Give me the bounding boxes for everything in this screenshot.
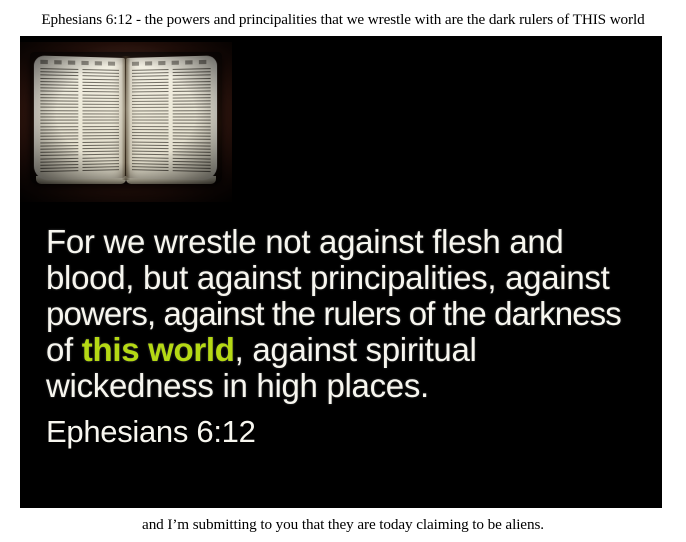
- scripture-quote: For we wrestle not against flesh and blo…: [46, 224, 646, 450]
- quote-line-4: of this world, against spiritual: [46, 332, 646, 368]
- media-panel: For we wrestle not against flesh and blo…: [20, 36, 662, 508]
- quote-line-5: wickedness in high places.: [46, 368, 646, 404]
- photo-vignette: [20, 42, 232, 202]
- quote-line-2: blood, but against principalities, again…: [46, 260, 646, 296]
- quote-line-3: powers, against the rulers of the darkne…: [46, 296, 646, 332]
- footer-caption: and I’m submitting to you that they are …: [0, 515, 686, 534]
- highlighted-phrase: this world: [82, 331, 235, 368]
- bible-photo: [20, 42, 232, 202]
- quote-line-4-prefix: of: [46, 331, 82, 368]
- quote-line-4-suffix: , against spiritual: [235, 331, 477, 368]
- quote-line-1: For we wrestle not against flesh and: [46, 224, 646, 260]
- page-root: Ephesians 6:12 - the powers and principa…: [0, 0, 686, 542]
- quote-attribution: Ephesians 6:12: [46, 414, 646, 450]
- header-caption: Ephesians 6:12 - the powers and principa…: [0, 10, 686, 29]
